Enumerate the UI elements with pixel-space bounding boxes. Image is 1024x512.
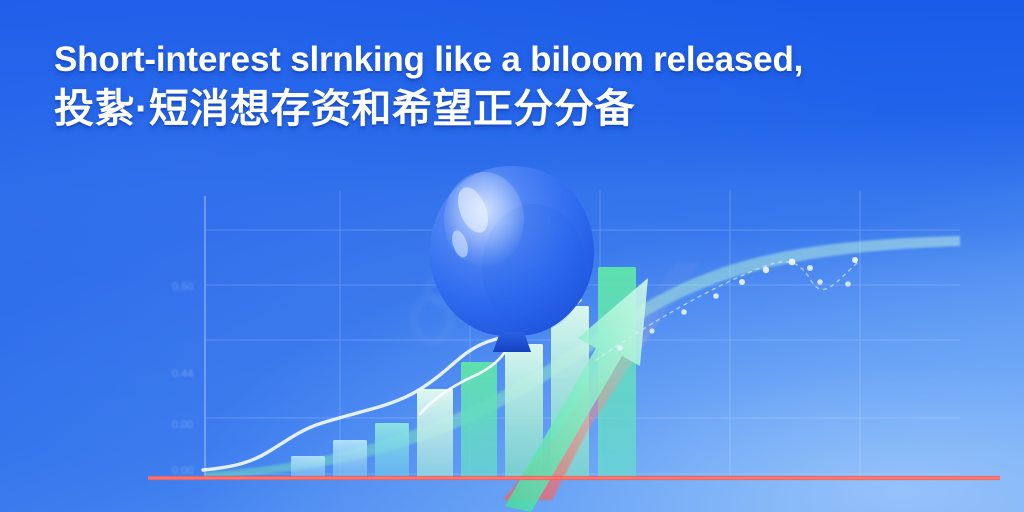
data-point bbox=[852, 257, 858, 263]
tick-label: 0.00 bbox=[172, 419, 193, 431]
headline-line-2: 投紥·短消想存资和希望正分分备 bbox=[54, 84, 954, 134]
headline-line-1: Short-interest slrnking like a biloom re… bbox=[54, 38, 954, 82]
bar bbox=[375, 423, 409, 478]
tick-label: 0.50 bbox=[172, 281, 193, 293]
data-point bbox=[713, 293, 719, 299]
banner-image: 0.50 0.44 0.00 0.00 bbox=[0, 0, 1024, 512]
data-point bbox=[649, 328, 654, 333]
bar bbox=[461, 362, 497, 478]
chart-tick-labels: 0.50 0.44 0.00 0.00 bbox=[172, 281, 193, 477]
data-point bbox=[807, 265, 813, 271]
data-point bbox=[789, 259, 796, 266]
data-point bbox=[681, 309, 687, 315]
tick-label: 0.44 bbox=[172, 368, 193, 380]
data-point bbox=[617, 345, 622, 350]
headline-block: Short-interest slrnking like a biloom re… bbox=[54, 38, 954, 134]
bar bbox=[291, 456, 325, 478]
data-point bbox=[763, 267, 769, 273]
bar bbox=[333, 440, 367, 478]
data-point bbox=[845, 281, 851, 287]
data-point bbox=[739, 279, 745, 285]
data-point bbox=[817, 279, 823, 285]
ghost-balloon-watermark bbox=[414, 277, 450, 342]
tick-label: 0.00 bbox=[172, 465, 193, 477]
bar bbox=[417, 389, 453, 478]
